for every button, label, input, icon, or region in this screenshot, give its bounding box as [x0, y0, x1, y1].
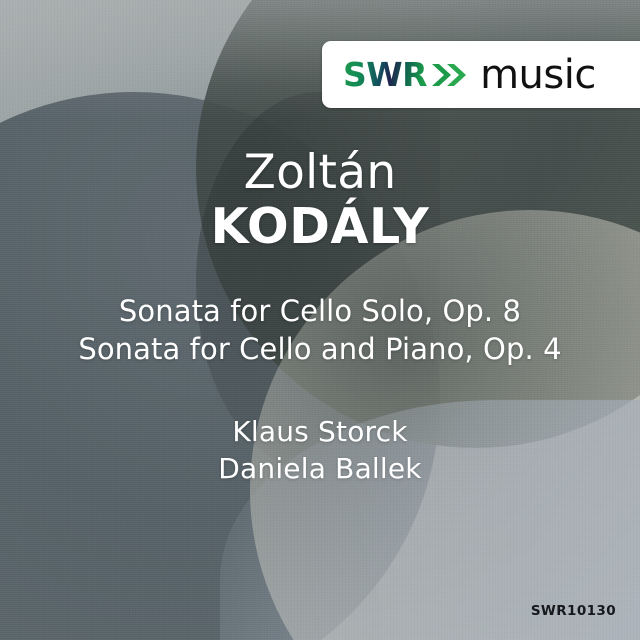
catalog-number: SWR10130 — [531, 603, 616, 619]
music-wordmark: music — [480, 55, 596, 95]
work-titles: Sonata for Cello Solo, Op. 8 Sonata for … — [0, 292, 640, 369]
composer-name: Zoltán KODÁLY — [0, 146, 640, 255]
swr-music-logo: SWR music — [322, 41, 640, 108]
composer-last-name: KODÁLY — [0, 200, 640, 255]
work-title-1: Sonata for Cello Solo, Op. 8 — [0, 292, 640, 330]
album-cover: SWR music Zoltán KODÁLY Sonata for Cello… — [0, 0, 640, 640]
work-title-2: Sonata for Cello and Piano, Op. 4 — [0, 330, 640, 368]
double-chevron-right-icon — [430, 61, 468, 89]
swr-wordmark: SWR — [343, 58, 427, 91]
performer-2: Daniela Ballek — [0, 451, 640, 488]
performer-names: Klaus Storck Daniela Ballek — [0, 414, 640, 488]
composer-first-name: Zoltán — [0, 146, 640, 200]
performer-1: Klaus Storck — [0, 414, 640, 451]
